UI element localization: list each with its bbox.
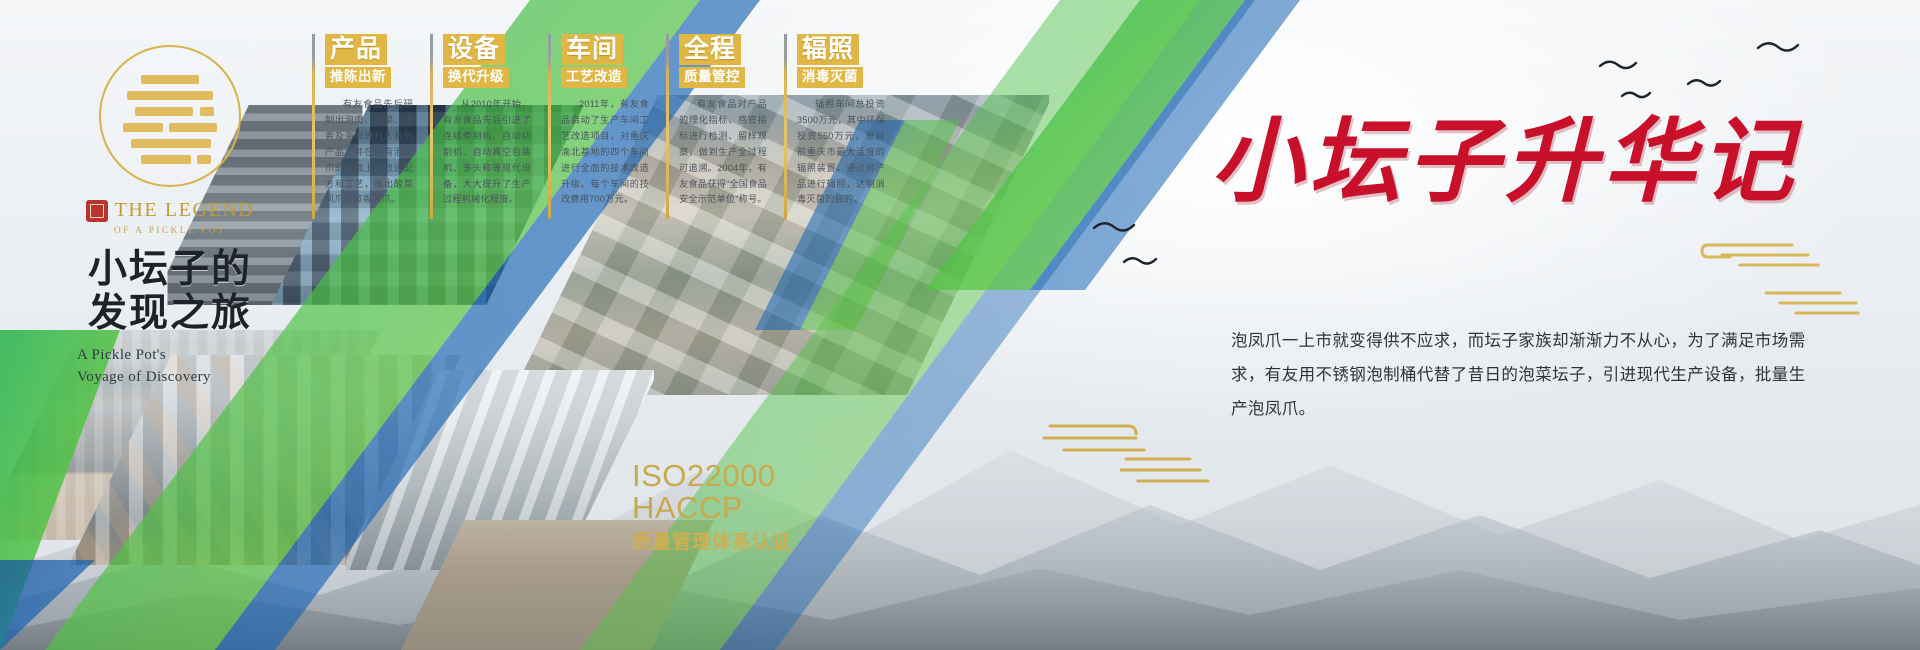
legend-en-label: THE LEGEND — [115, 199, 255, 222]
gold-cloud-ornament-icon — [1760, 285, 1860, 319]
poster-canvas: THE LEGEND OF A PICKLE POT 小坛子的 发现之旅 A P… — [0, 0, 1920, 650]
poster-paragraph: 泡凤爪一上市就变得供不应求，而坛子家族却渐渐力不从心，为了满足市场需求，有友用不… — [1231, 325, 1811, 426]
card-title: 设备 — [443, 34, 505, 65]
gold-cloud-ornament-icon — [1040, 418, 1150, 458]
card-rail — [312, 34, 315, 219]
pickle-pot-seal-icon — [99, 45, 241, 187]
card-rail — [784, 34, 787, 219]
poster-headline: 小坛子升华记 — [1175, 88, 1835, 218]
info-card: 设备 换代升级 从2010年开始，有友食品先后引进了连续煮制机、自动切割机、自动… — [430, 34, 531, 208]
card-title: 车间 — [561, 34, 623, 65]
card-title: 全程 — [679, 34, 741, 65]
card-body: 有友食品对产品的理化指标、感官指标进行检测、留样观察，做到生产全过程可追溯。20… — [679, 97, 767, 208]
certification-line1: ISO22000 — [632, 460, 792, 492]
card-rail — [548, 34, 551, 219]
info-card: 辐照 消毒灭菌 辐照车间总投资3500万元，其中环保投资550万元，是目前重庆市… — [784, 34, 885, 208]
legend-lockup: THE LEGEND — [55, 199, 285, 222]
legend-sub-label: OF A PICKLE POT — [55, 226, 285, 236]
info-card: 产品 推陈出新 有友食品先后研制出泡肉、泡菜、卤香及海鲜等几大系列产品，并在原有… — [312, 34, 413, 208]
card-rail — [430, 34, 433, 219]
certification-block: ISO22000 HACCP 质量管理体系认证 — [632, 460, 792, 554]
info-card: 车间 工艺改造 2011年，有友食品启动了生产车间工艺改造项目，对重庆渝北基地的… — [548, 34, 649, 208]
card-body: 有友食品先后研制出泡肉、泡菜、卤香及海鲜等几大系列产品，并在原有泡凤爪的基础上，… — [325, 97, 413, 208]
info-card-strip: 产品 推陈出新 有友食品先后研制出泡肉、泡菜、卤香及海鲜等几大系列产品，并在原有… — [312, 34, 885, 208]
brand-title-en-line2: Voyage of Discovery — [77, 367, 285, 388]
certification-line3: 质量管理体系认证 — [632, 527, 792, 554]
card-subtitle: 质量管控 — [679, 67, 745, 88]
gold-cloud-ornament-icon — [1700, 235, 1820, 281]
gold-cloud-ornament-icon — [1120, 452, 1210, 484]
card-body: 从2010年开始，有友食品先后引进了连续煮制机、自动切割机、自动真空包装机、多头… — [443, 97, 531, 208]
brand-title-cn-line1: 小坛子的 — [55, 248, 285, 292]
card-title: 产品 — [325, 34, 387, 65]
red-chop-icon — [86, 200, 108, 222]
certification-line2: HACCP — [632, 492, 792, 524]
card-title: 辐照 — [797, 34, 859, 65]
brand-title-cn-line2: 发现之旅 — [55, 292, 285, 336]
card-subtitle: 换代升级 — [443, 67, 509, 88]
card-body: 2011年，有友食品启动了生产车间工艺改造项目，对重庆渝北基地的四个车间进行全面… — [561, 97, 649, 208]
brand-title-cn: 小坛子的 发现之旅 — [55, 248, 285, 335]
brand-title-en: A Pickle Pot's Voyage of Discovery — [55, 345, 285, 388]
info-card: 全程 质量管控 有友食品对产品的理化指标、感官指标进行检测、留样观察，做到生产全… — [666, 34, 767, 208]
card-subtitle: 消毒灭菌 — [797, 67, 863, 88]
poster-headline-text: 小坛子升华记 — [1175, 88, 1835, 218]
card-subtitle: 工艺改造 — [561, 67, 627, 88]
brand-block: THE LEGEND OF A PICKLE POT 小坛子的 发现之旅 A P… — [55, 45, 285, 388]
card-body: 辐照车间总投资3500万元，其中环保投资550万元，是目前重庆市最大活度的辐照装… — [797, 97, 885, 208]
card-subtitle: 推陈出新 — [325, 67, 391, 88]
card-rail — [666, 34, 669, 219]
brand-title-en-line1: A Pickle Pot's — [77, 345, 285, 366]
